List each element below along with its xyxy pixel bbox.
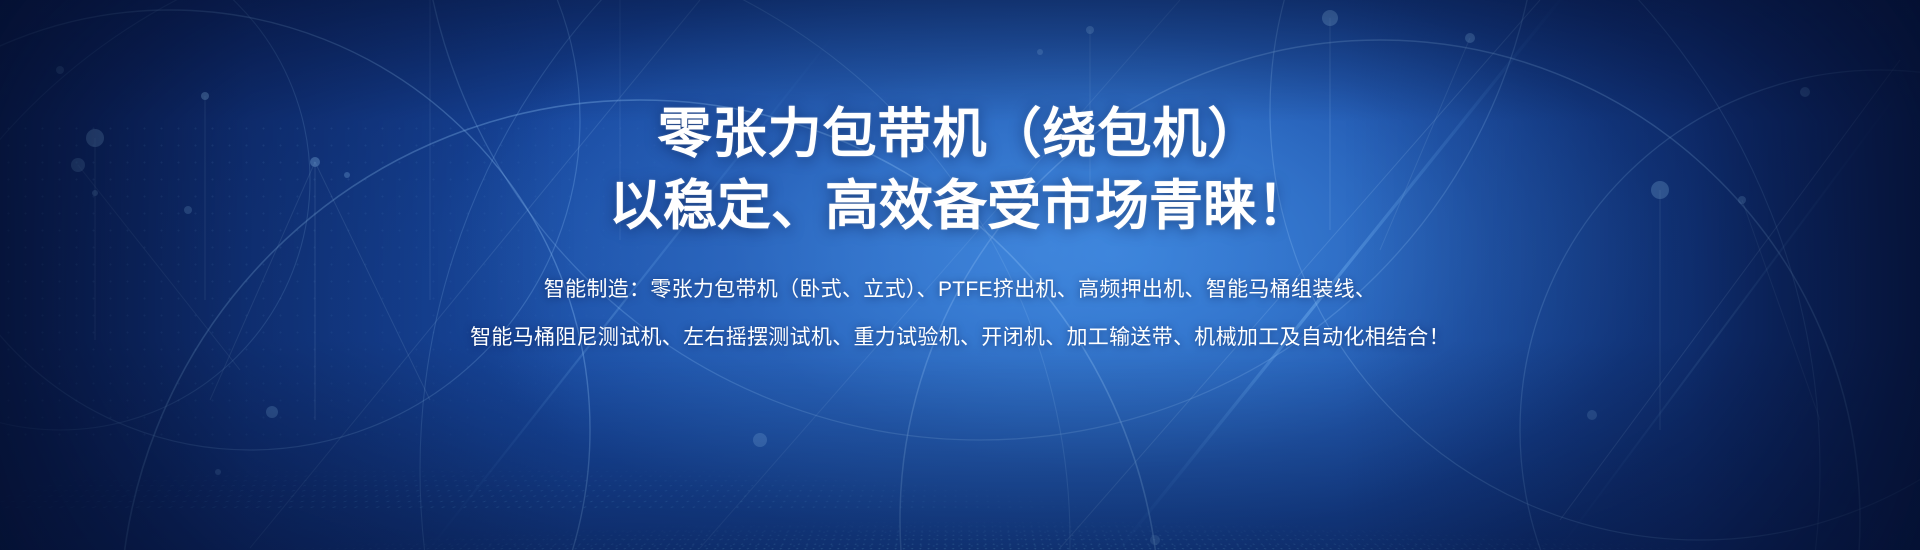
banner-title-line-2: 以稳定、高效备受市场青睐！ — [609, 172, 1311, 240]
banner-subtitle-line-2: 智能马桶阻尼测试机、左右摇摆测试机、重力试验机、开闭机、加工输送带、机械加工及自… — [470, 322, 1450, 354]
promo-banner: 零张力包带机（绕包机） 以稳定、高效备受市场青睐！ 智能制造：零张力包带机（卧式… — [0, 0, 1920, 550]
banner-subtitle-line-1: 智能制造：零张力包带机（卧式、立式）、PTFE挤出机、高频押出机、智能马桶组装线… — [544, 274, 1376, 306]
banner-title-line-1: 零张力包带机（绕包机） — [658, 100, 1263, 168]
banner-content: 零张力包带机（绕包机） 以稳定、高效备受市场青睐！ 智能制造：零张力包带机（卧式… — [0, 0, 1920, 550]
